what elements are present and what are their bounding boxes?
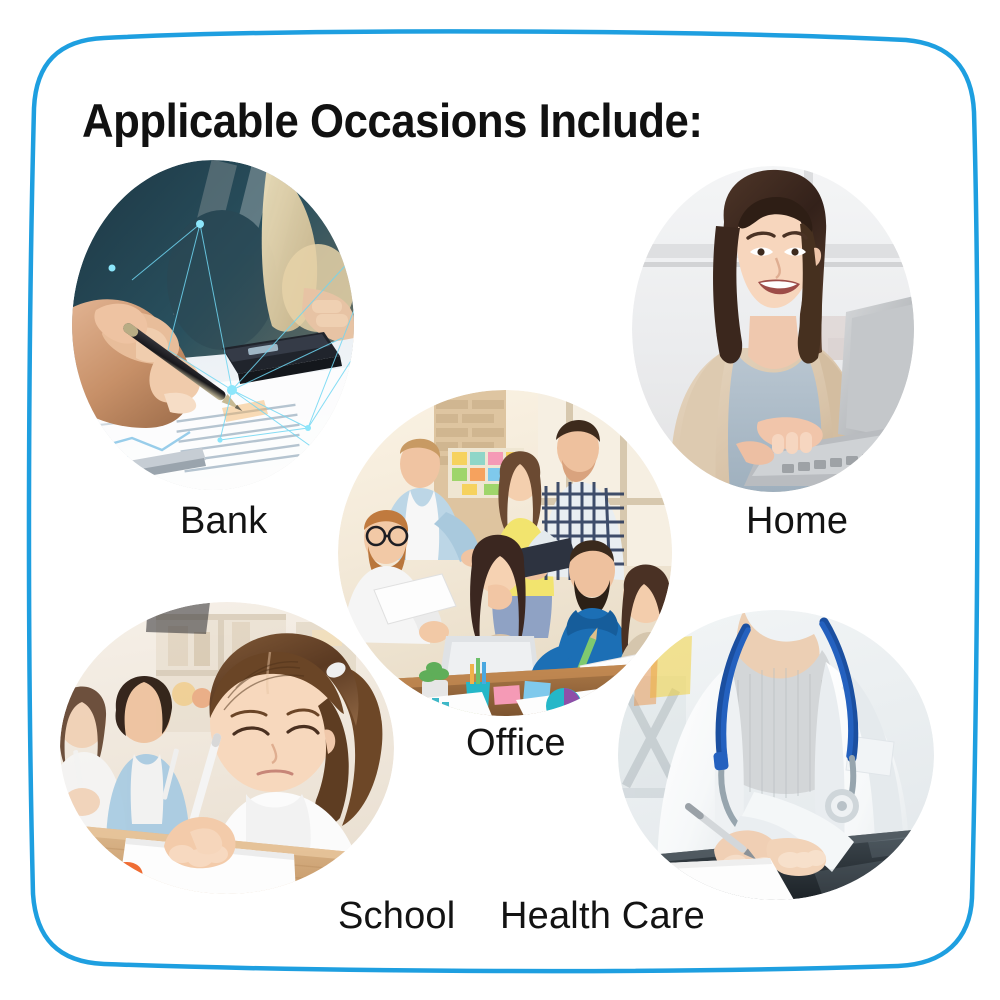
occasion-item-home — [632, 166, 914, 492]
occasion-label-home: Home — [746, 500, 848, 543]
bank-photo — [72, 160, 354, 490]
school-photo — [60, 602, 394, 894]
occasion-item-healthcare — [618, 610, 934, 900]
healthcare-photo — [618, 610, 934, 900]
occasion-label-healthcare: Health Care — [500, 895, 705, 938]
occasion-item-school — [60, 602, 394, 894]
home-photo — [632, 166, 914, 492]
occasion-label-school: School — [338, 895, 455, 938]
occasion-item-bank — [72, 160, 354, 490]
product-infographic-card: Applicable Occasions Include: — [0, 0, 1000, 1000]
occasion-label-bank: Bank — [180, 500, 267, 543]
page-title: Applicable Occasions Include: — [82, 93, 702, 148]
occasion-label-office: Office — [466, 722, 566, 765]
